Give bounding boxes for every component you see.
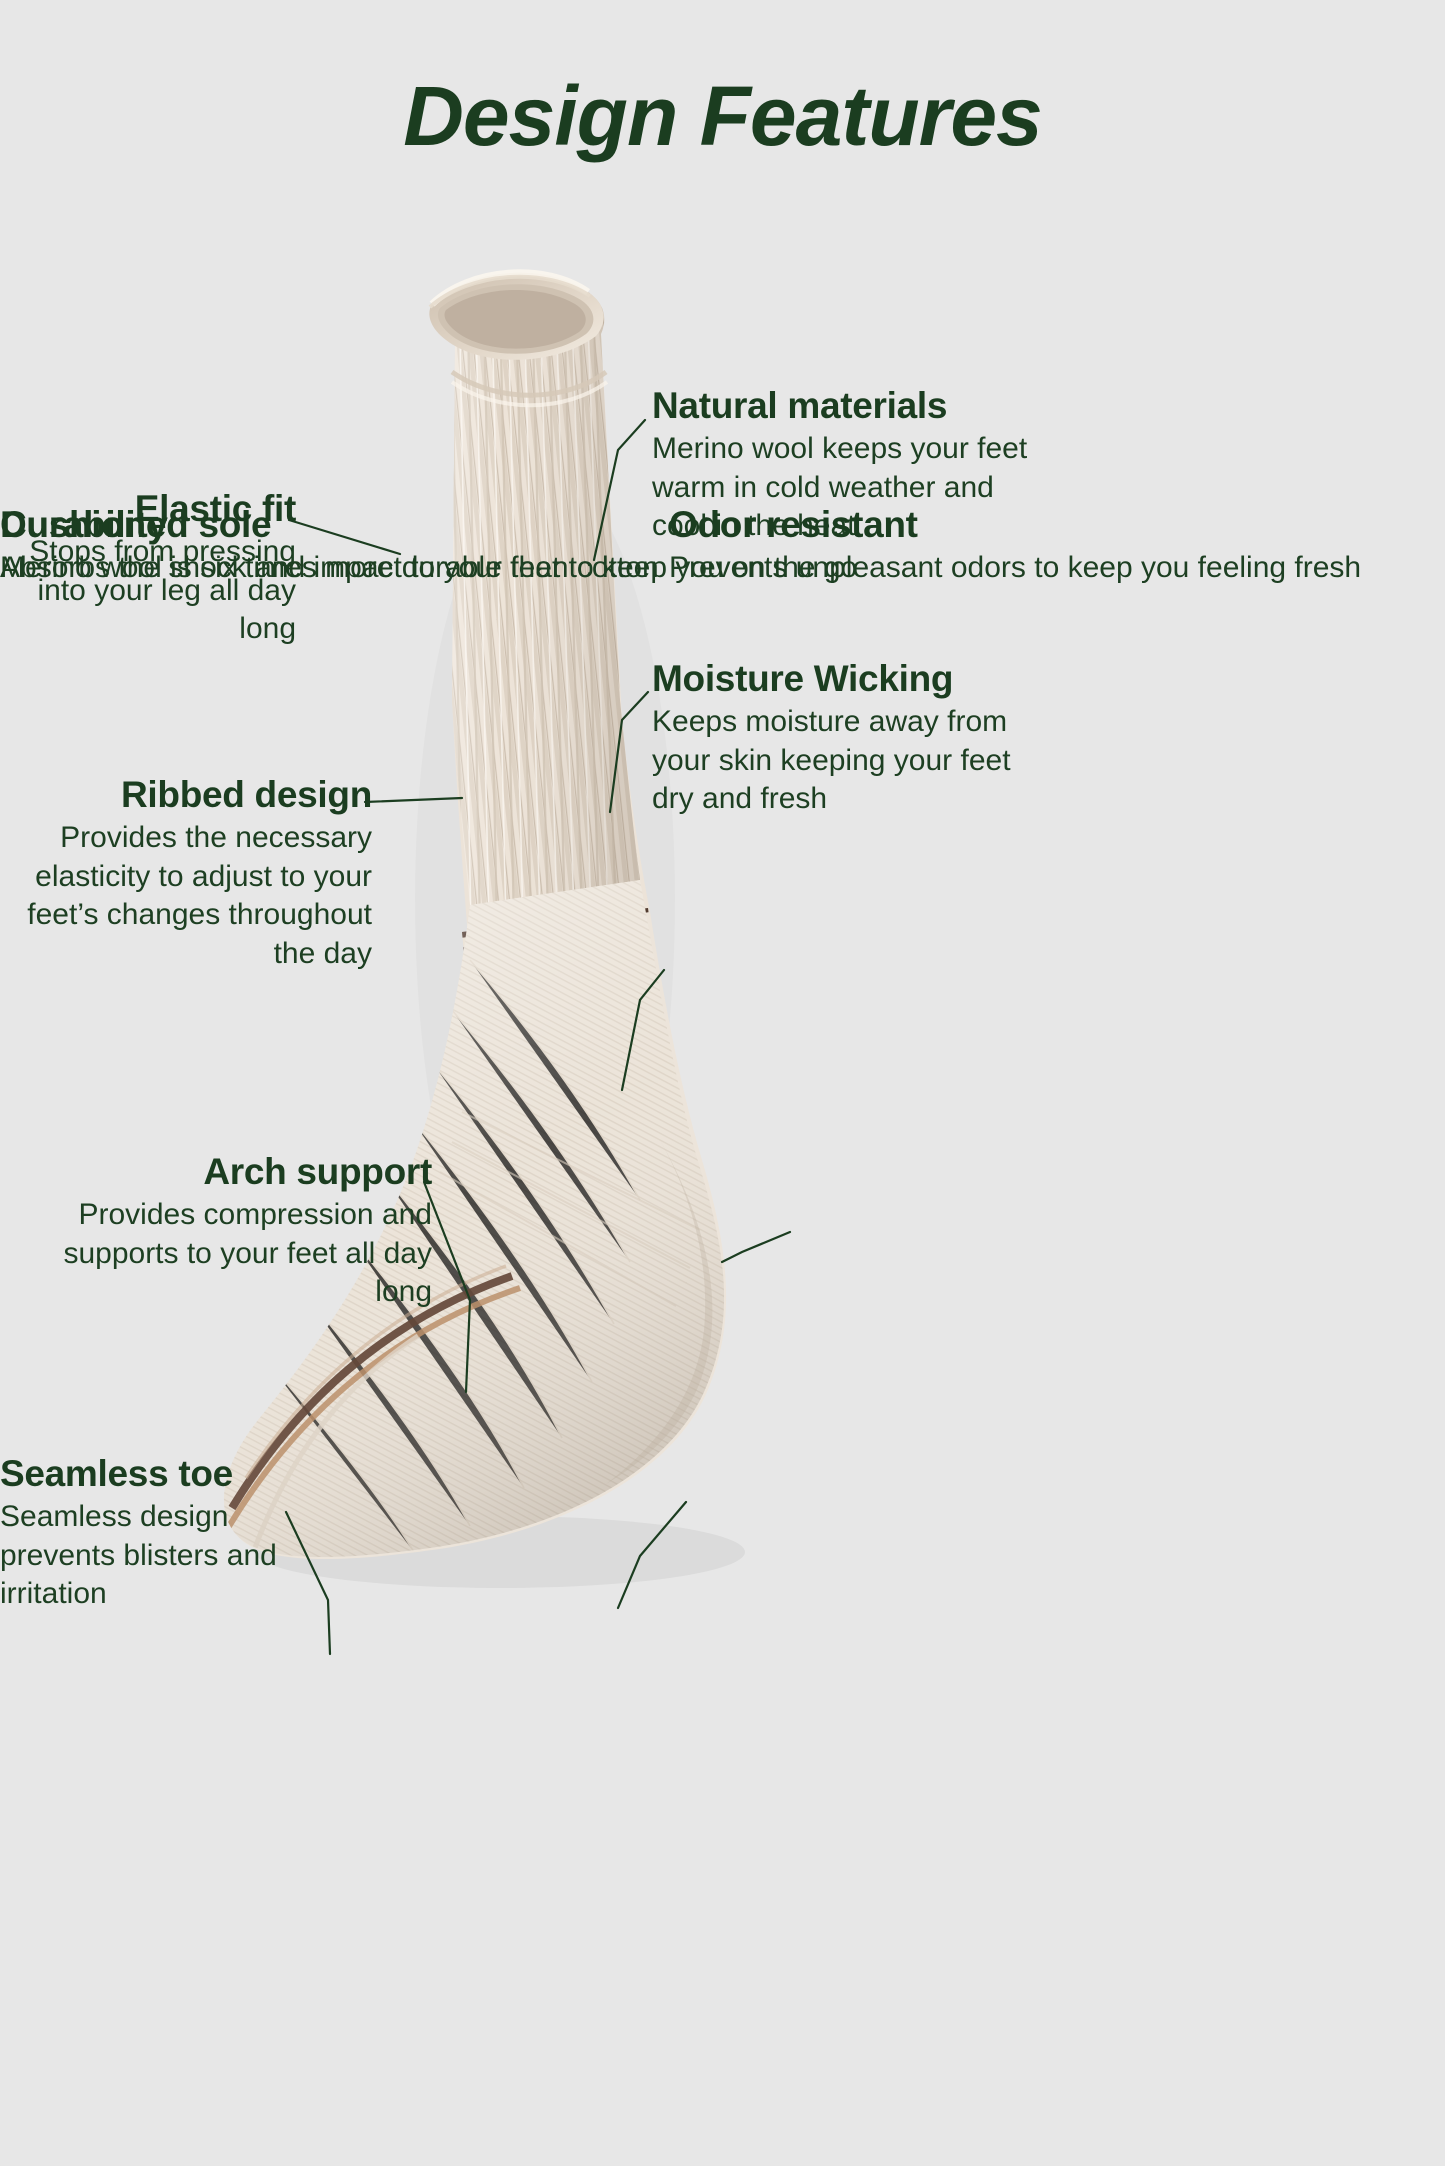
callout-heading-arch-support: Arch support	[0, 1151, 432, 1192]
callout-heading-seamless-toe: Seamless toe	[0, 1453, 290, 1494]
marker-dot-durability[interactable]	[0, 280, 56, 336]
callout-body-seamless-toe: Seamless design prevents blisters and ir…	[0, 1498, 290, 1613]
marker-dot-elastic-fit[interactable]	[0, 0, 56, 56]
infographic-page: Design Features Elastic fit Stops from p…	[0, 0, 1445, 2166]
callout-moisture-wicking: Moisture Wicking Keeps moisture away fro…	[652, 658, 1052, 819]
callout-body-ribbed-design: Provides the necessary elasticity to adj…	[0, 819, 372, 973]
callout-seamless-toe: Seamless toe Seamless design prevents bl…	[0, 1453, 290, 1614]
marker-dot-moisture-wicking[interactable]	[0, 168, 56, 224]
marker-dot-arch-support[interactable]	[0, 336, 56, 392]
callout-heading-moisture-wicking: Moisture Wicking	[652, 658, 1052, 699]
callout-body-arch-support: Provides compression and supports to you…	[0, 1196, 432, 1311]
callout-heading-ribbed-design: Ribbed design	[0, 774, 372, 815]
callout-heading-natural-materials: Natural materials	[652, 385, 1052, 426]
marker-dot-cushioned-sole[interactable]	[0, 392, 56, 448]
callout-ribbed-design: Ribbed design Provides the necessary ela…	[0, 774, 372, 973]
page-title: Design Features	[0, 74, 1445, 158]
callout-arch-support: Arch support Provides compression and su…	[0, 1151, 432, 1312]
callout-heading-cushioned-sole: Cushioned sole	[0, 504, 857, 545]
callout-body-cushioned-sole: Absorbs the shock and impact to your fee…	[0, 549, 857, 587]
sock-product-image	[0, 0, 1445, 2166]
callout-cushioned-sole: Cushioned sole Absorbs the shock and imp…	[0, 504, 857, 588]
callout-body-moisture-wicking: Keeps moisture away from your skin keepi…	[652, 703, 1052, 818]
marker-dot-odor-resistant[interactable]	[0, 224, 56, 280]
